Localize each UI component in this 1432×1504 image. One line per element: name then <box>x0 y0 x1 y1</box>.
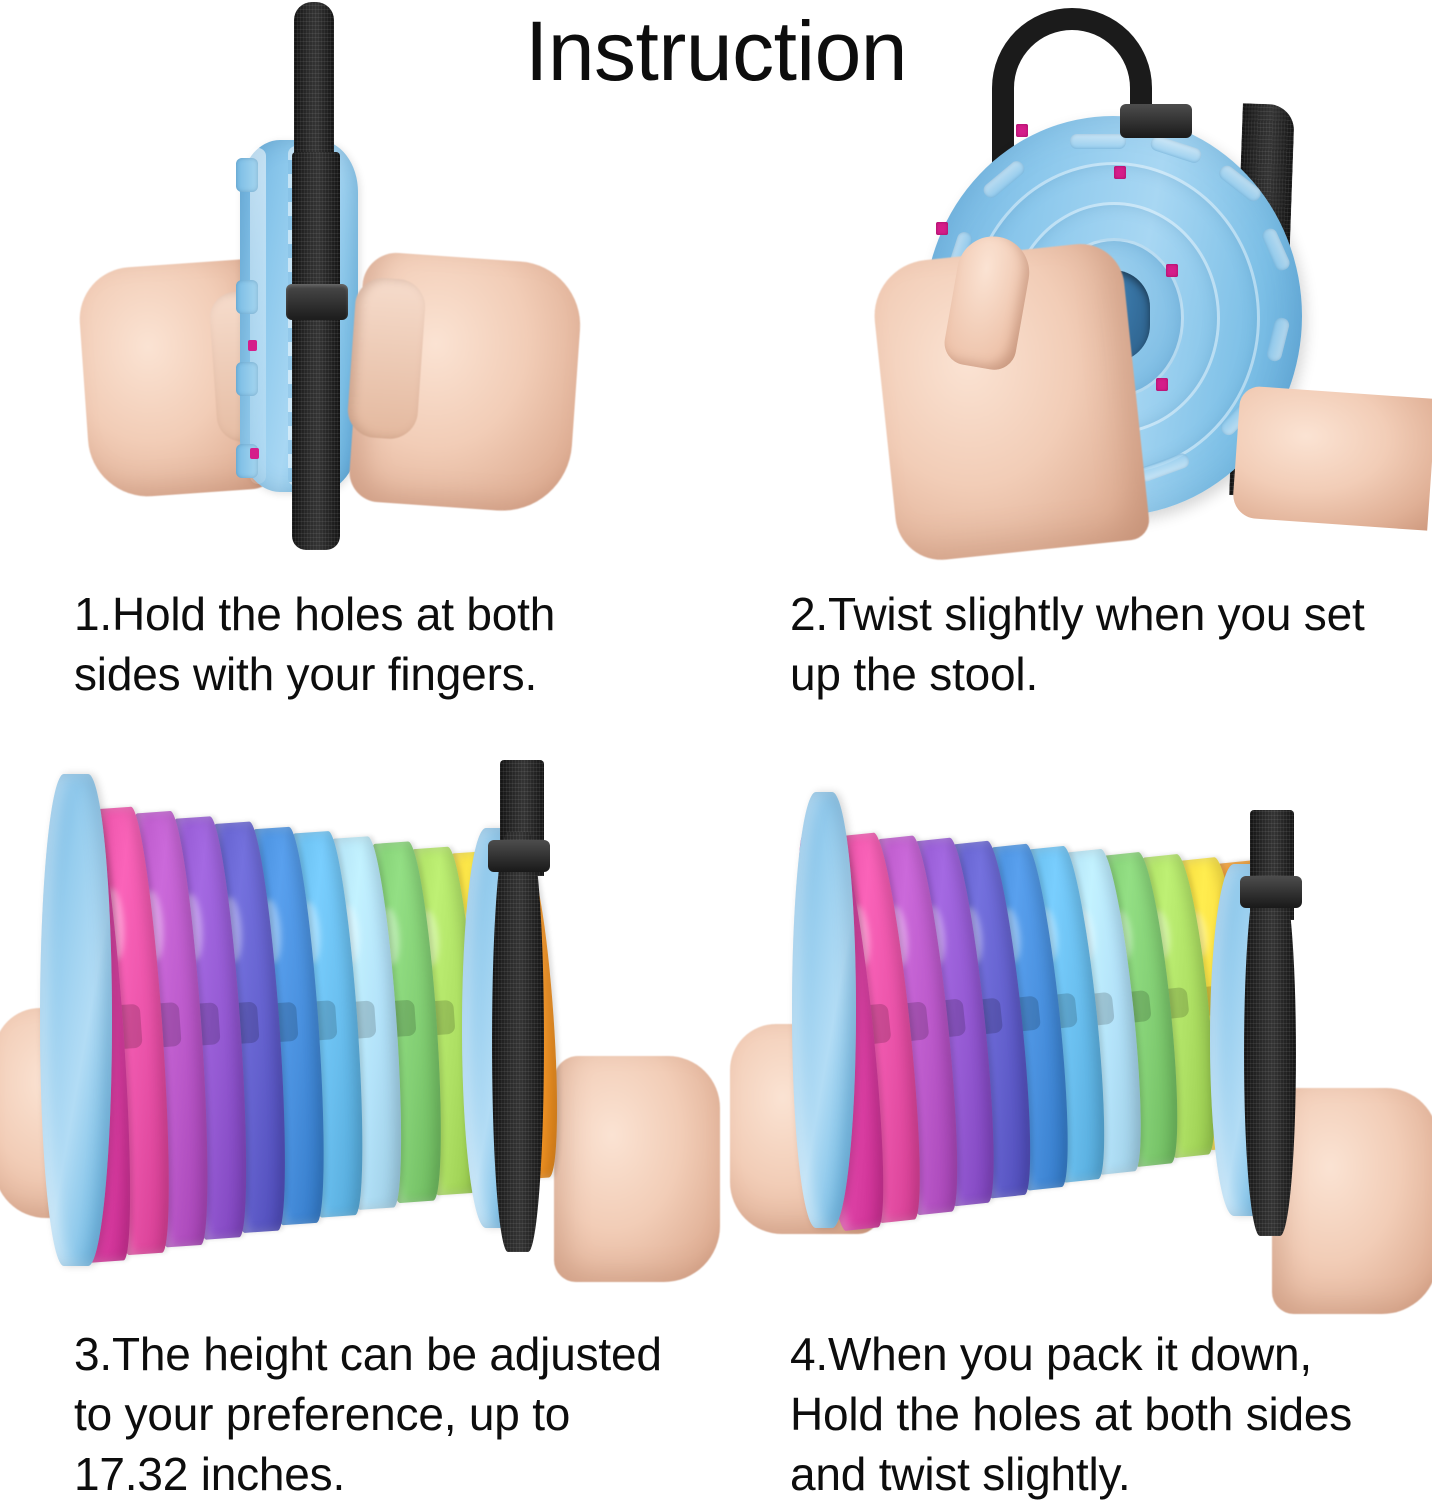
collapsed-stool-edge-view <box>0 96 716 536</box>
step-2-figure <box>716 0 1432 560</box>
strap-buckle <box>488 840 550 872</box>
rim-dash <box>1149 134 1203 164</box>
magenta-pin <box>936 222 948 235</box>
right-hand <box>1272 1088 1432 1314</box>
shoulder-strap <box>292 152 340 550</box>
strap-buckle <box>1240 876 1302 908</box>
shoulder-strap <box>1244 872 1296 1236</box>
strap-buckle <box>286 284 348 320</box>
step-4-caption: 4.When you pack it down, Hold the holes … <box>716 1324 1432 1504</box>
step-3-caption: 3.The height can be adjusted to your pre… <box>0 1324 716 1504</box>
strap-buckle <box>1120 104 1192 138</box>
right-hand <box>348 251 585 516</box>
instruction-step-2: 2.Twist slightly when you set up the sto… <box>716 0 1432 756</box>
rim-dash <box>1265 316 1290 362</box>
instruction-steps-grid: 1.Hold the holes at both sides with your… <box>0 0 1432 1500</box>
magenta-pin <box>1156 378 1168 391</box>
instruction-step-4: 4.When you pack it down, Hold the holes … <box>716 756 1432 1500</box>
shoulder-strap <box>492 832 544 1252</box>
right-hand <box>554 1056 720 1282</box>
packing-down-rainbow-stool <box>716 756 1432 1316</box>
magenta-pin <box>1016 124 1028 137</box>
instruction-step-1: 1.Hold the holes at both sides with your… <box>0 96 716 756</box>
rim-dash <box>981 158 1027 200</box>
magenta-pin <box>1166 264 1178 277</box>
step-4-figure <box>716 756 1432 1316</box>
wrist <box>1232 385 1432 530</box>
step-2-caption: 2.Twist slightly when you set up the sto… <box>716 584 1432 704</box>
side-tab <box>236 280 258 314</box>
stool-top-face-twist-view <box>716 0 1432 560</box>
side-tab <box>236 362 258 396</box>
expanded-rainbow-stool <box>0 756 716 1316</box>
step-1-caption: 1.Hold the holes at both sides with your… <box>0 584 716 704</box>
stool-top-ring <box>792 792 856 1228</box>
stool-top-ring <box>40 774 112 1266</box>
rim-dash <box>1070 134 1126 149</box>
side-tab <box>236 158 258 192</box>
side-tab-group <box>236 152 258 484</box>
instruction-step-3: 3.The height can be adjusted to your pre… <box>0 756 716 1500</box>
strap-loop <box>294 2 334 162</box>
magenta-pin <box>250 448 259 459</box>
magenta-pin <box>248 340 257 351</box>
step-3-figure <box>0 756 716 1316</box>
rainbow-layer-stack[interactable] <box>788 788 1277 1233</box>
step-1-figure <box>0 96 716 536</box>
magenta-pin <box>1114 166 1126 179</box>
